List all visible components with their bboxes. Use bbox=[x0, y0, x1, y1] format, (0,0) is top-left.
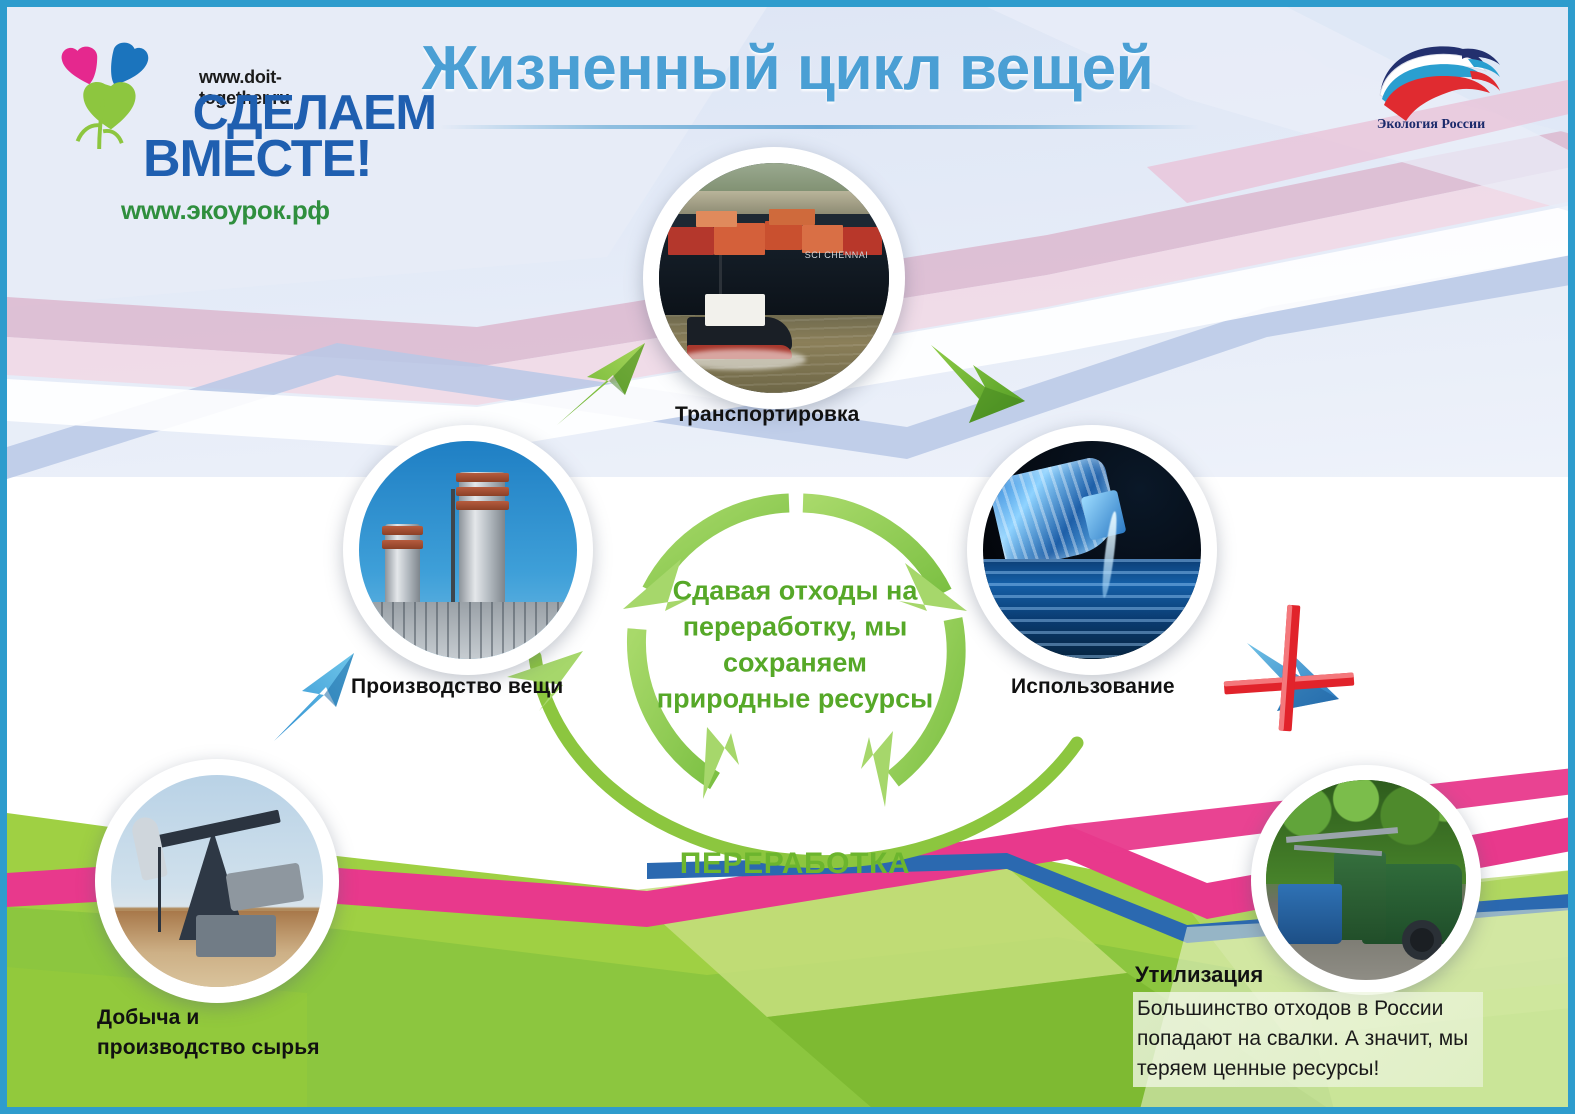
stage-label-usage: Использование bbox=[1011, 675, 1175, 699]
title-divider bbox=[439, 125, 1199, 129]
ship-name-text: SCI CHENNAI bbox=[805, 250, 869, 260]
stage-node-production[interactable] bbox=[343, 425, 593, 675]
arrow-usage-to-disposal-crossed-out-icon bbox=[1223, 599, 1363, 739]
stage-label-extraction-line2: производство сырья bbox=[97, 1036, 320, 1059]
recycling-label: ПЕРЕРАБОТКА bbox=[593, 847, 997, 881]
stage-node-disposal[interactable] bbox=[1251, 765, 1481, 995]
arrow-transportation-to-usage-icon bbox=[915, 337, 1045, 442]
green-garbage-truck-with-blue-bin-photo bbox=[1266, 780, 1466, 980]
stage-node-usage[interactable] bbox=[967, 425, 1217, 675]
container-ship-with-tugboat-photo: SCI CHENNAI bbox=[659, 163, 889, 393]
oil-pumpjack-photo bbox=[111, 775, 323, 987]
callout-box: Большинство отходов в России попадают на… bbox=[1133, 992, 1483, 1087]
refinery-smokestacks-photo bbox=[359, 441, 577, 659]
logo-caption: Экология России bbox=[1356, 117, 1506, 133]
blue-plastic-bottle-pouring-water-photo bbox=[983, 441, 1201, 659]
logo-ecology-of-russia[interactable]: Экология России bbox=[1350, 35, 1510, 143]
poster-root: Жизненный цикл вещей www.doit-together.r… bbox=[0, 0, 1575, 1114]
stage-node-extraction[interactable] bbox=[95, 759, 339, 1003]
stage-node-transportation[interactable]: SCI CHENNAI bbox=[643, 147, 905, 409]
arrow-production-to-transportation-icon bbox=[547, 337, 677, 437]
stage-label-extraction-line1: Добыча и bbox=[97, 1006, 199, 1029]
russia-tricolor-ribbon-icon bbox=[1350, 35, 1510, 127]
logo-url-bottom[interactable]: www.экоурок.рф bbox=[121, 195, 330, 226]
stage-label-transportation: Транспортировка bbox=[675, 403, 859, 427]
logo-sdelaem-vmeste[interactable]: www.doit-together.ru СДЕЛАЕМ ВМЕСТЕ! www… bbox=[59, 37, 359, 227]
red-cross-icon bbox=[1224, 605, 1355, 732]
callout-title: Утилизация bbox=[1135, 962, 1263, 988]
stage-label-extraction: Добыча и производство сырья bbox=[97, 1003, 397, 1064]
callout-body: Большинство отходов в России попадают на… bbox=[1137, 994, 1479, 1083]
logo-word-vmeste: ВМЕСТЕ! bbox=[143, 129, 372, 189]
stage-label-production: Производство вещи bbox=[351, 675, 563, 699]
